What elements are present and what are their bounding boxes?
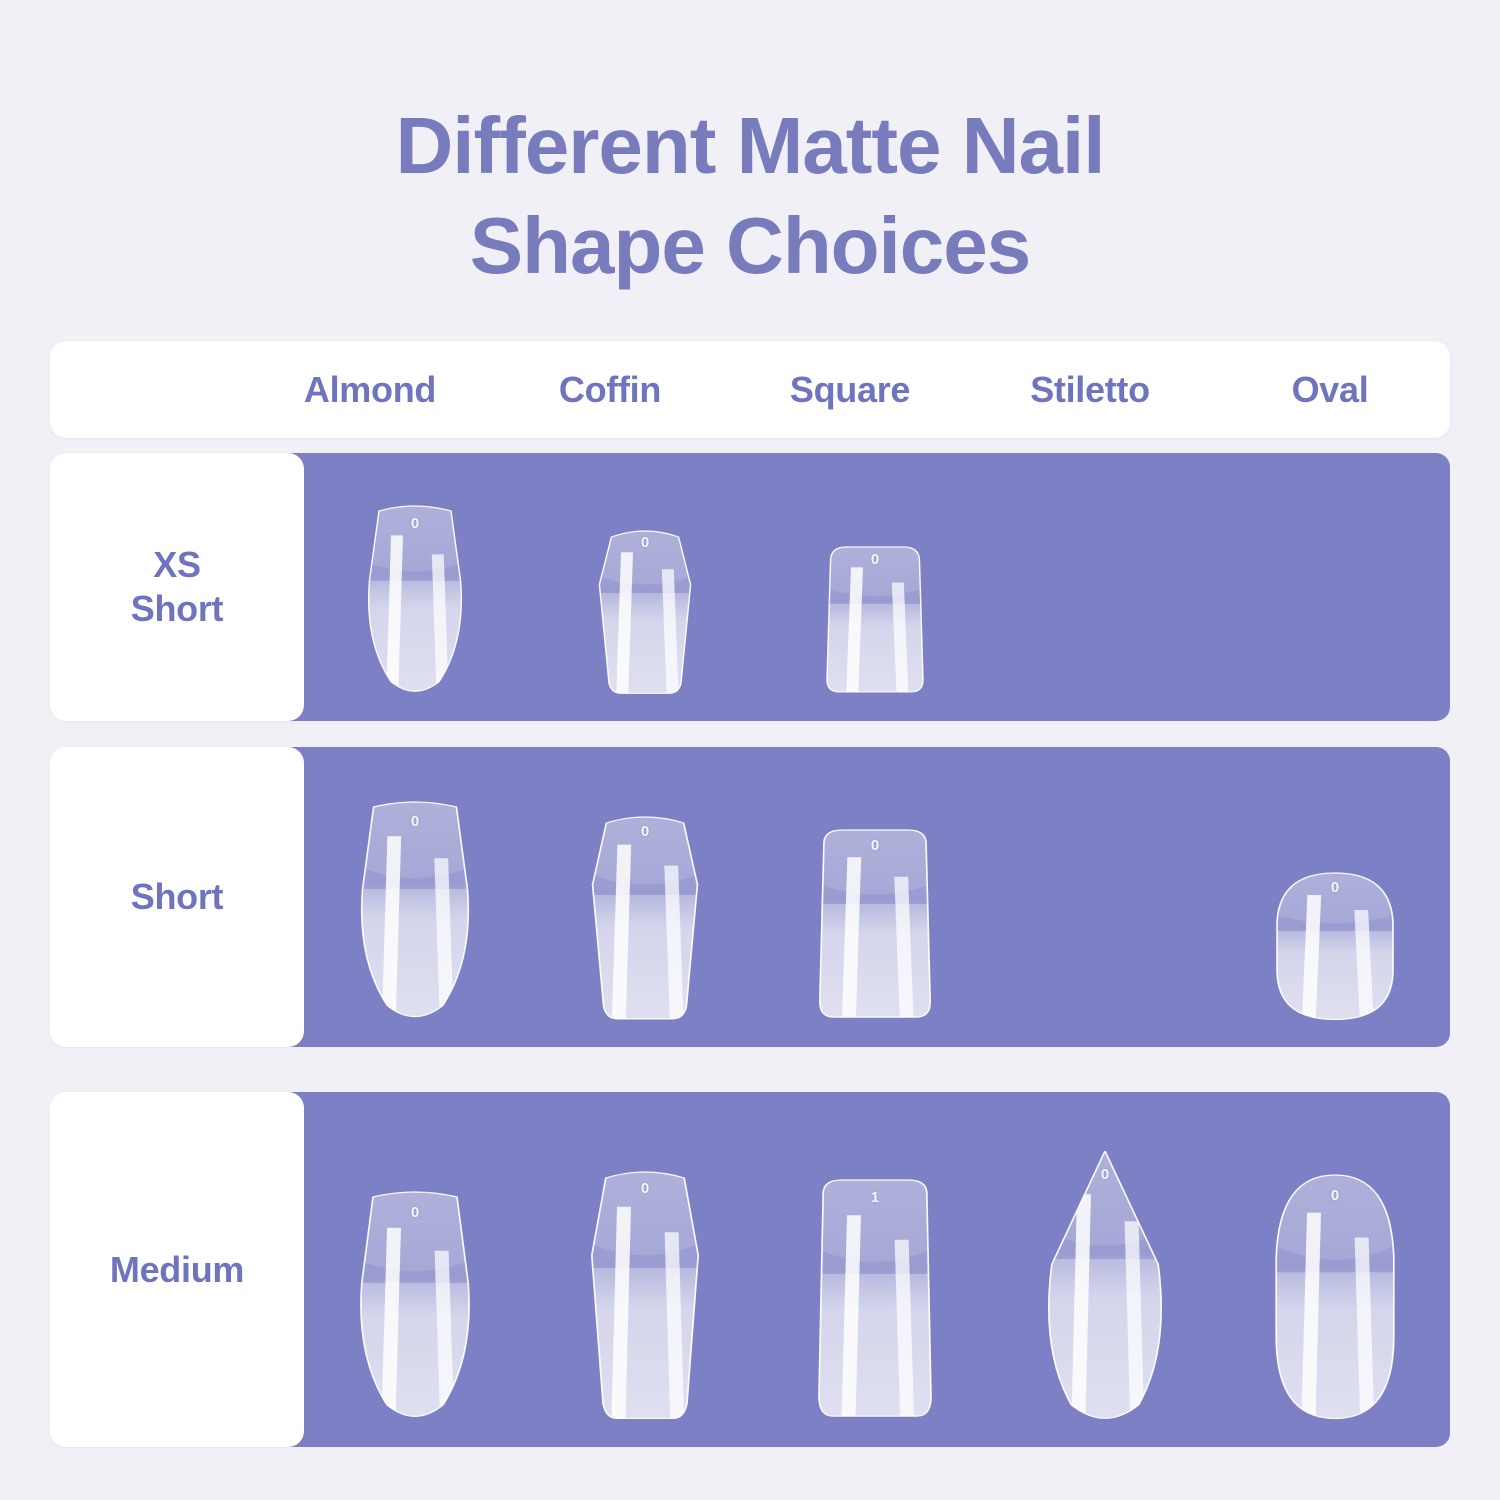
- nail-top-sheen: [1280, 871, 1390, 924]
- nail-matte-area: [1277, 931, 1393, 1021]
- nail-matte-area: [817, 904, 933, 1021]
- column-header-oval: Oval: [1210, 369, 1450, 411]
- nail-stiletto-svg: [1035, 1151, 1175, 1421]
- nail-matte-area: [595, 593, 696, 695]
- row-label: XS Short: [131, 543, 224, 631]
- nail-coffin-svg: [576, 811, 714, 1021]
- table-row: XS Short000: [50, 453, 1450, 721]
- row-swatch-panel: 0000: [250, 747, 1450, 1047]
- nail-matte-area: [587, 895, 703, 1021]
- nail-tip-coffin[interactable]: 0: [576, 811, 714, 1021]
- nail-matte-area: [357, 889, 473, 1021]
- nail-cell-almond[interactable]: 0: [300, 747, 530, 1047]
- nail-cell-square[interactable]: 1: [760, 1092, 990, 1447]
- nail-cell-stiletto[interactable]: 0: [990, 1092, 1220, 1447]
- nail-almond-svg: [355, 505, 475, 695]
- row-cells: 0000: [300, 747, 1450, 1047]
- row-swatch-panel: 000: [250, 453, 1450, 721]
- nail-matte-area: [825, 604, 926, 695]
- nail-oval-svg: [1266, 871, 1404, 1021]
- nail-tip-oval[interactable]: 0: [1266, 871, 1404, 1021]
- nail-matte-area: [1276, 1272, 1394, 1421]
- nail-matte-area: [1046, 1259, 1164, 1421]
- column-header-card: AlmondCoffinSquareStilettoOval: [50, 341, 1450, 438]
- nail-top-sheen: [367, 505, 463, 572]
- page-title: Different Matte Nail Shape Choices: [0, 96, 1500, 296]
- row-swatch-panel: 00100: [250, 1092, 1450, 1447]
- row-label-card: XS Short: [50, 453, 304, 721]
- nail-top-sheen: [819, 1176, 931, 1262]
- nail-cell-oval[interactable]: 0: [1220, 1092, 1450, 1447]
- nail-top-sheen: [1279, 1173, 1391, 1260]
- nail-tip-oval[interactable]: 0: [1265, 1173, 1405, 1421]
- table-row: Medium00100: [50, 1092, 1450, 1447]
- nail-square-svg: [815, 543, 935, 695]
- nail-matte-area: [586, 1268, 704, 1421]
- nail-top-sheen: [360, 801, 470, 878]
- nail-tip-square[interactable]: 1: [805, 1176, 945, 1421]
- nail-tip-stiletto[interactable]: 0: [1035, 1151, 1175, 1421]
- row-label: Medium: [110, 1248, 244, 1292]
- nail-cell-almond[interactable]: 0: [300, 453, 530, 721]
- column-header-stiletto: Stiletto: [970, 369, 1210, 411]
- row-label-card: Short: [50, 747, 304, 1047]
- nail-tip-coffin[interactable]: 0: [575, 1166, 715, 1421]
- nail-top-sheen: [597, 525, 693, 585]
- row-cells: 000: [300, 453, 1450, 721]
- column-header-almond: Almond: [250, 369, 490, 411]
- row-label: Short: [131, 875, 224, 919]
- nail-top-sheen: [820, 826, 930, 894]
- nail-almond-svg: [346, 801, 484, 1021]
- nail-coffin-svg: [575, 1166, 715, 1421]
- row-cells: 00100: [300, 1092, 1450, 1447]
- nail-square-svg: [805, 1176, 945, 1421]
- nail-cell-square[interactable]: 0: [760, 453, 990, 721]
- column-header-row: AlmondCoffinSquareStilettoOval: [250, 341, 1450, 438]
- page-title-line-1: Different Matte Nail: [0, 96, 1500, 196]
- nail-cell-square[interactable]: 0: [760, 747, 990, 1047]
- nail-top-sheen: [590, 811, 700, 885]
- nail-almond-svg: [345, 1191, 485, 1421]
- nail-tip-almond[interactable]: 0: [345, 1191, 485, 1421]
- nail-cell-oval[interactable]: 0: [1220, 747, 1450, 1047]
- nail-tip-almond[interactable]: 0: [346, 801, 484, 1021]
- nail-tip-coffin[interactable]: 0: [585, 525, 705, 695]
- row-label-card: Medium: [50, 1092, 304, 1447]
- nail-square-svg: [806, 826, 944, 1021]
- nail-matte-area: [365, 581, 466, 695]
- nail-top-sheen: [589, 1166, 701, 1255]
- page-title-line-2: Shape Choices: [0, 196, 1500, 296]
- nail-top-sheen: [1049, 1151, 1161, 1246]
- nail-matte-area: [356, 1283, 474, 1421]
- nail-cell-coffin[interactable]: 0: [530, 1092, 760, 1447]
- table-row: Short0000: [50, 747, 1450, 1047]
- nail-coffin-svg: [585, 525, 705, 695]
- nail-matte-area: [816, 1274, 934, 1421]
- nail-tip-square[interactable]: 0: [806, 826, 944, 1021]
- nail-top-sheen: [827, 543, 923, 596]
- nail-cell-coffin[interactable]: 0: [530, 747, 760, 1047]
- nail-top-sheen: [359, 1191, 471, 1272]
- nail-tip-almond[interactable]: 0: [355, 505, 475, 695]
- nail-cell-coffin[interactable]: 0: [530, 453, 760, 721]
- column-header-coffin: Coffin: [490, 369, 730, 411]
- column-header-square: Square: [730, 369, 970, 411]
- nail-tip-square[interactable]: 0: [815, 543, 935, 695]
- nail-cell-almond[interactable]: 0: [300, 1092, 530, 1447]
- nail-oval-svg: [1265, 1173, 1405, 1421]
